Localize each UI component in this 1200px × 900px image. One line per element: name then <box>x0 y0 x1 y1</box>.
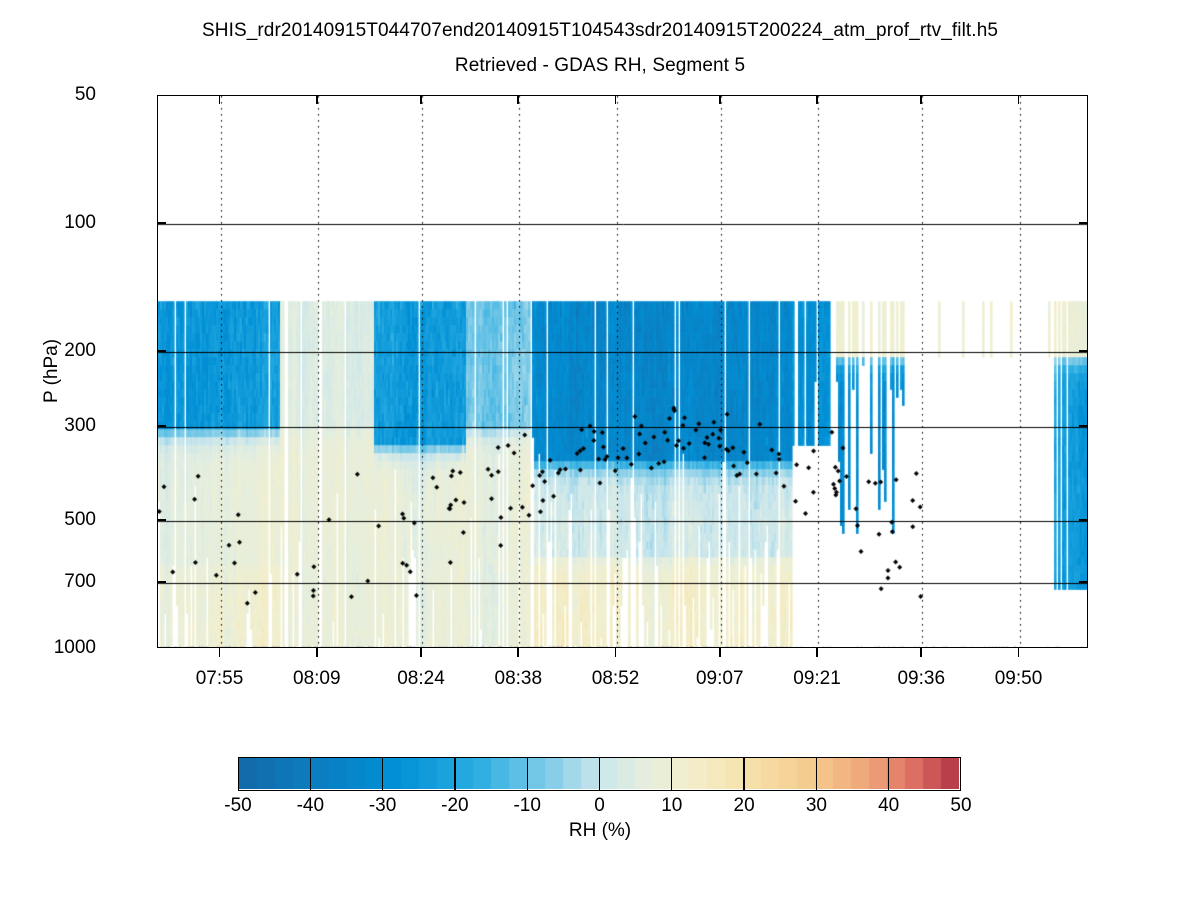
y-tick-mark <box>157 519 166 521</box>
colorbar-tick-label: 20 <box>734 795 755 817</box>
x-tick-label: 09:07 <box>696 668 744 690</box>
y-tick-mark <box>157 222 166 224</box>
y-axis-label: P (hPa) <box>41 339 63 403</box>
colorbar-tick-label: -10 <box>513 795 540 817</box>
y-tick-label: 50 <box>75 84 96 106</box>
colorbar-tick-label: 40 <box>878 795 899 817</box>
y-tick-label: 1000 <box>54 637 96 659</box>
y-tick-label: 200 <box>64 340 96 362</box>
colorbar-tick-mark <box>888 757 889 791</box>
scatter-markers-canvas <box>158 96 1088 648</box>
colorbar-tick-label: 0 <box>594 795 605 817</box>
x-tick-mark <box>615 95 617 104</box>
y-tick-label: 100 <box>64 212 96 234</box>
plot-area <box>157 95 1088 648</box>
x-tick-mark <box>420 95 422 104</box>
x-tick-label: 09:36 <box>897 668 945 690</box>
colorbar-tick-label: -20 <box>441 795 468 817</box>
x-tick-label: 07:55 <box>196 668 244 690</box>
y-tick-label: 300 <box>64 415 96 437</box>
colorbar-tick-label: 30 <box>806 795 827 817</box>
colorbar-tick-mark <box>671 757 672 791</box>
colorbar-tick-label: -50 <box>224 795 251 817</box>
x-tick-mark <box>920 95 922 104</box>
x-tick-mark <box>1018 648 1020 657</box>
x-tick-mark <box>517 648 519 657</box>
x-tick-label: 08:52 <box>592 668 640 690</box>
colorbar-tick-mark <box>527 757 528 791</box>
y-tick-mark <box>1079 222 1088 224</box>
figure-subtitle: Retrieved - GDAS RH, Segment 5 <box>0 55 1200 77</box>
x-tick-mark <box>920 648 922 657</box>
colorbar-tick-mark <box>743 757 744 791</box>
x-tick-label: 09:50 <box>995 668 1043 690</box>
colorbar-tick-label: -30 <box>369 795 396 817</box>
x-tick-label: 08:38 <box>495 668 543 690</box>
x-tick-label: 09:21 <box>793 668 841 690</box>
x-tick-mark <box>1018 95 1020 104</box>
colorbar-tick-label: 50 <box>950 795 971 817</box>
colorbar-tick-mark <box>310 757 311 791</box>
colorbar-tick-mark <box>382 757 383 791</box>
x-tick-mark <box>517 95 519 104</box>
colorbar-tick-label: -40 <box>297 795 324 817</box>
x-tick-mark <box>316 95 318 104</box>
y-tick-mark <box>1079 519 1088 521</box>
x-tick-label: 08:24 <box>397 668 445 690</box>
x-tick-mark <box>420 648 422 657</box>
y-tick-mark <box>157 425 166 427</box>
colorbar-tick-mark <box>454 757 455 791</box>
y-tick-mark <box>1079 425 1088 427</box>
x-tick-mark <box>219 648 221 657</box>
colorbar-tick-mark <box>599 757 600 791</box>
x-tick-mark <box>816 95 818 104</box>
y-tick-label: 700 <box>64 571 96 593</box>
x-tick-mark <box>219 95 221 104</box>
colorbar-tick-label: 10 <box>661 795 682 817</box>
y-tick-label: 500 <box>64 509 96 531</box>
x-tick-mark <box>816 648 818 657</box>
figure-root: SHIS_rdr20140915T044707end20140915T10454… <box>0 0 1200 900</box>
x-tick-mark <box>615 648 617 657</box>
x-tick-mark <box>719 648 721 657</box>
x-tick-mark <box>719 95 721 104</box>
colorbar-tick-mark <box>816 757 817 791</box>
y-tick-mark <box>1079 350 1088 352</box>
x-tick-mark <box>316 648 318 657</box>
colorbar-title: RH (%) <box>569 820 631 842</box>
figure-title: SHIS_rdr20140915T044707end20140915T10454… <box>0 20 1200 42</box>
y-tick-mark <box>1079 581 1088 583</box>
y-tick-mark <box>157 350 166 352</box>
y-tick-mark <box>157 581 166 583</box>
x-tick-label: 08:09 <box>293 668 341 690</box>
